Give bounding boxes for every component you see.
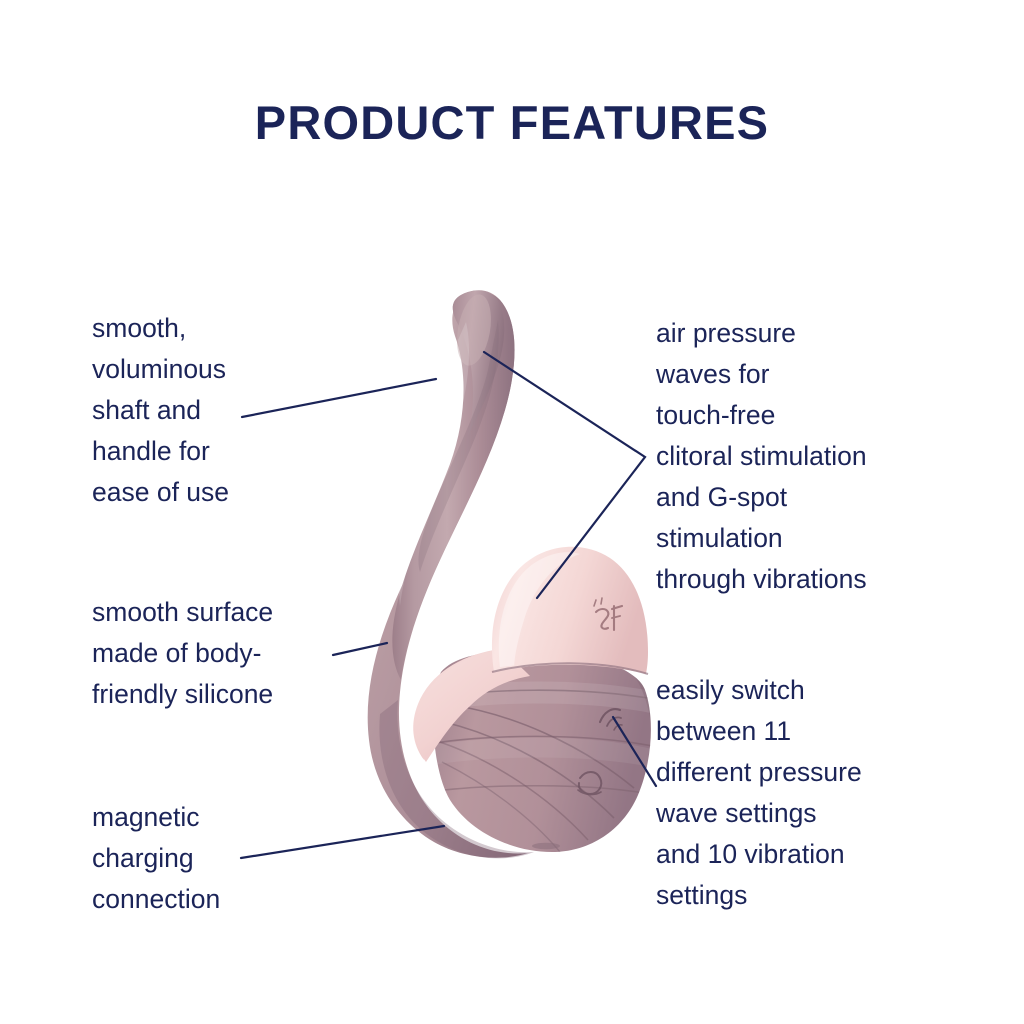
- callout-air-pressure-waves: air pressure waves for touch-free clitor…: [656, 313, 996, 600]
- callout-smooth-surface-silicone: smooth surface made of body- friendly si…: [92, 592, 402, 715]
- product-features-infographic: PRODUCT FEATURES: [0, 0, 1024, 1024]
- product-cap: [492, 546, 666, 676]
- callout-magnetic-charging: magnetic charging connection: [92, 797, 392, 920]
- callout-settings: easily switch between 11 different press…: [656, 670, 996, 916]
- callout-smooth-shaft: smooth, voluminous shaft and handle for …: [92, 308, 392, 513]
- magnetic-charging-contact: [532, 843, 560, 849]
